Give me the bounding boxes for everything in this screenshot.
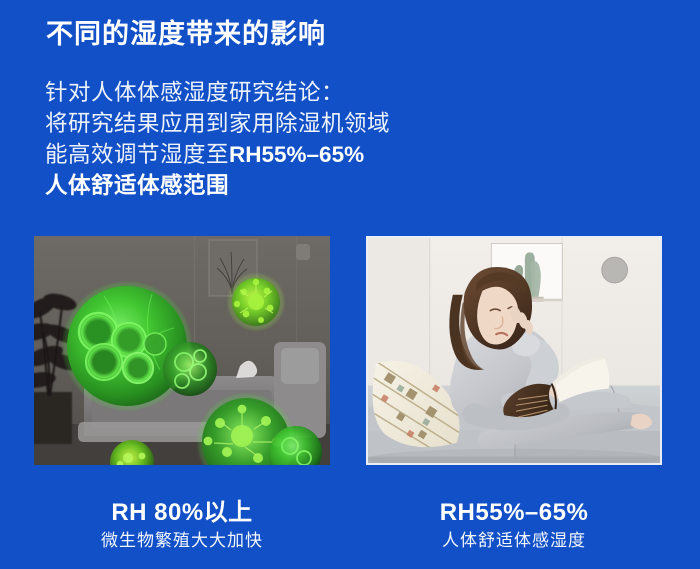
caption-subtitle-comfort-humidity: 人体舒适体感湿度 [366,528,662,554]
lede-line-3-prefix: 能高效调节湿度至 [45,142,229,167]
lede-paragraph: 针对人体体感湿度研究结论： 将研究结果应用到家用除湿机领域 能高效调节湿度至RH… [45,77,390,201]
lede-line-3-emphasis: RH55%–65% [229,142,364,167]
humidity-infographic-poster: 不同的湿度带来的影响 针对人体体感湿度研究结论： 将研究结果应用到家用除湿机领域… [0,0,700,569]
caption-comfort-humidity: RH55%–65% 人体舒适体感湿度 [366,498,662,554]
lede-line-3: 能高效调节湿度至RH55%–65% [45,139,390,170]
high-humidity-illustration [34,236,330,465]
page-title: 不同的湿度带来的影响 [46,18,326,52]
lede-line-4: 人体舒适体感范围 [45,170,390,201]
caption-high-humidity: RH 80%以上 微生物繁殖大大加快 [34,498,330,554]
caption-title-comfort-humidity: RH55%–65% [366,498,662,528]
photo-high-humidity-microbes [34,236,330,465]
caption-subtitle-high-humidity: 微生物繁殖大大加快 [34,528,330,554]
photo-comfort-humidity-woman [366,236,662,465]
lede-line-2: 将研究结果应用到家用除湿机领域 [45,108,390,139]
comfort-humidity-illustration [368,238,660,463]
lede-line-1: 针对人体体感湿度研究结论： [45,77,390,108]
caption-title-high-humidity: RH 80%以上 [34,498,330,528]
